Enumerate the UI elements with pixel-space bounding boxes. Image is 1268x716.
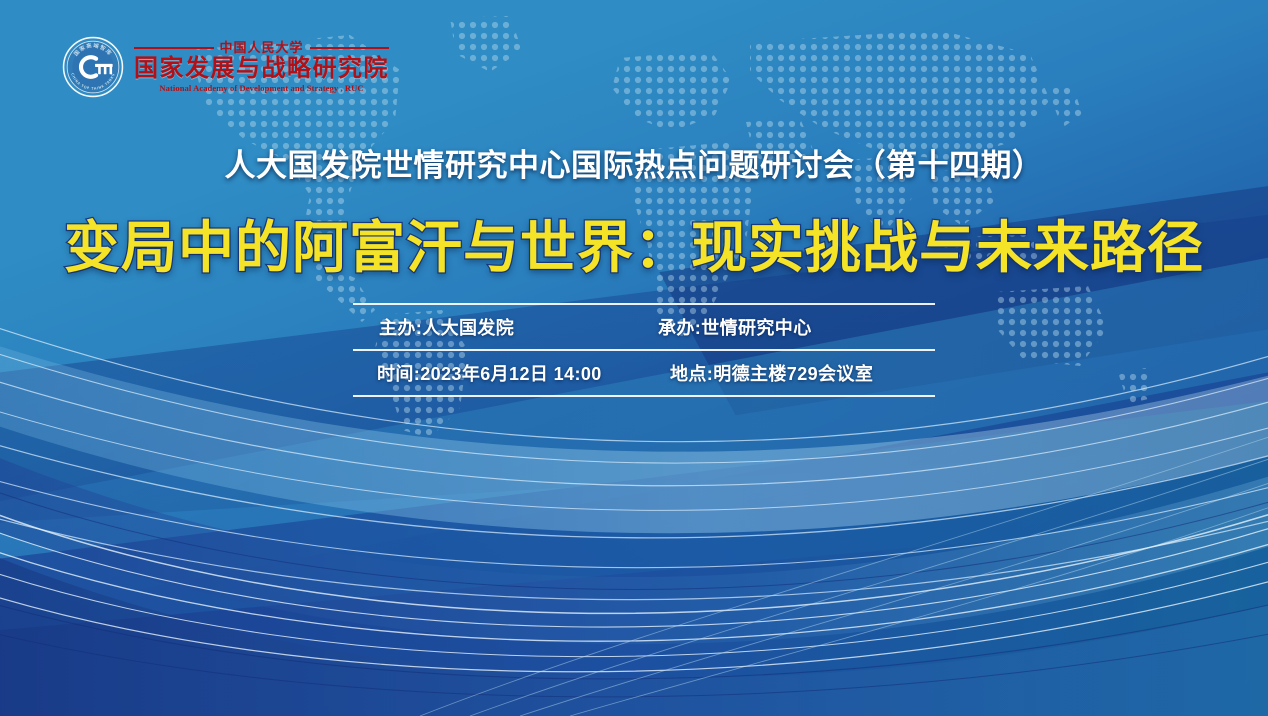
page-title: 变局中的阿富汗与世界：现实挑战与未来路径 — [0, 203, 1268, 284]
think-tank-seal-icon: 国家高端智库 CHINA TOP THINK TANKS — [62, 36, 124, 98]
host-text: 主办:人大国发院 — [353, 314, 644, 340]
logo-institute-name: 国家发展与战略研究院 — [134, 57, 389, 81]
logo-rule-right — [310, 47, 390, 49]
info-row-hosts: 主办:人大国发院 承办:世情研究中心 — [353, 305, 935, 349]
time-text: 时间:2023年6月12日 14:00 — [353, 360, 644, 386]
place-text: 地点:明德主楼729会议室 — [644, 360, 935, 386]
logo-rule-left — [134, 47, 214, 49]
logo-text-block: 中国人民大学 国家发展与战略研究院 National Academy of De… — [134, 41, 389, 93]
logo-university-row: 中国人民大学 — [134, 41, 389, 54]
institution-logo: 国家高端智库 CHINA TOP THINK TANKS 中国人民大学 国家发展… — [62, 36, 389, 98]
logo-university-name: 中国人民大学 — [220, 41, 304, 54]
conference-poster: 国家高端智库 CHINA TOP THINK TANKS 中国人民大学 国家发展… — [0, 0, 1268, 716]
divider-bottom — [353, 395, 935, 397]
info-row-time-place: 时间:2023年6月12日 14:00 地点:明德主楼729会议室 — [353, 351, 935, 395]
event-series-subtitle: 人大国发院世情研究中心国际热点问题研讨会（第十四期） — [0, 140, 1268, 185]
organizer-text: 承办:世情研究中心 — [644, 314, 935, 340]
logo-institute-name-en: National Academy of Development and Stra… — [159, 84, 363, 93]
event-info-block: 主办:人大国发院 承办:世情研究中心 时间:2023年6月12日 14:00 地… — [353, 303, 935, 397]
